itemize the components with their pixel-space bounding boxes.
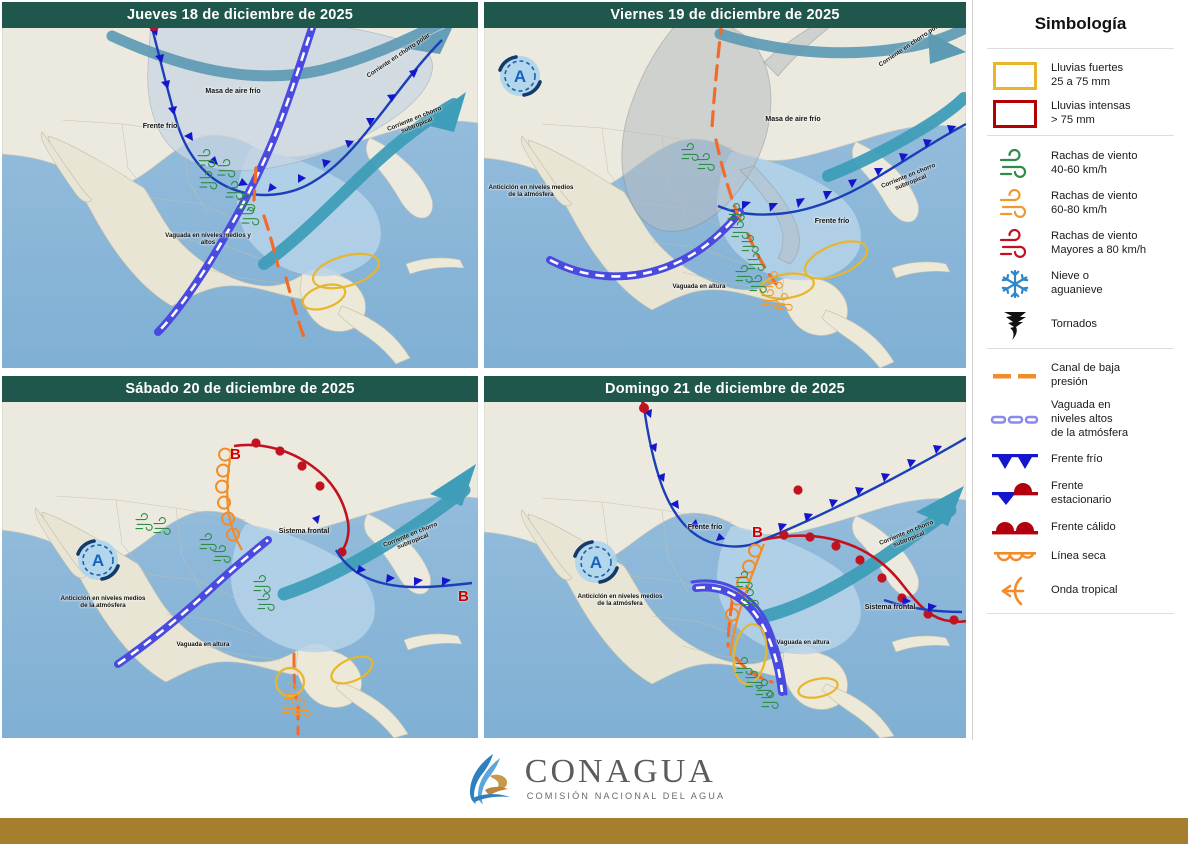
panel-saturday-map[interactable]: A [2, 402, 478, 738]
cold-front-icon [989, 450, 1041, 470]
wind-gust-green-icon [989, 149, 1041, 179]
legend-item-wind-40-60[interactable]: Rachas de viento 40-60 km/h [981, 144, 1180, 184]
tropical-wave-icon [989, 576, 1041, 606]
panel-friday-map[interactable]: A [484, 28, 966, 368]
low-pressure-channel-icon [989, 370, 1041, 382]
conagua-emblem-icon [463, 750, 515, 806]
legend-label-wind-40-60: Rachas de viento 40-60 km/h [1051, 150, 1137, 177]
svg-text:A: A [92, 551, 104, 570]
panel-thursday-title: Jueves 18 de diciembre de 2025 [2, 2, 478, 28]
tornado-icon [989, 309, 1041, 341]
map-canvas-friday: A [484, 28, 966, 368]
legend-label-cold-front: Frente frío [1051, 453, 1103, 467]
legend-divider-bottom [987, 613, 1174, 614]
footer: CONAGUA COMISIÓN NACIONAL DEL AGUA [0, 740, 1188, 844]
rain-box-yellow-icon [989, 62, 1041, 90]
warm-front-icon [989, 518, 1041, 538]
legend-label-intense-rain: Lluvias intensas > 75 mm [1051, 100, 1131, 127]
panel-saturday[interactable]: Sábado 20 de diciembre de 2025 [2, 376, 478, 738]
conagua-logo: CONAGUA COMISIÓN NACIONAL DEL AGUA [0, 750, 1188, 806]
panel-friday-title: Viernes 19 de diciembre de 2025 [484, 2, 966, 28]
low-pressure-symbol-right: B [458, 588, 469, 605]
legend-divider-top [987, 48, 1174, 49]
legend-item-wind-60-80[interactable]: Rachas de viento 60-80 km/h [981, 184, 1180, 224]
legend-item-dry-line[interactable]: Línea seca [981, 543, 1180, 571]
map-canvas-sunday: A [484, 402, 966, 738]
anticyclone-symbol-friday: A [500, 56, 540, 96]
dry-line-icon [989, 548, 1041, 566]
wind-gust-orange-icon [989, 189, 1041, 219]
legend-item-wind-over-80[interactable]: Rachas de viento Mayores a 80 km/h [981, 224, 1180, 264]
conagua-subtitle: COMISIÓN NACIONAL DEL AGUA [527, 792, 725, 801]
conagua-wordmark: CONAGUA [525, 755, 725, 789]
low-pressure-symbol: B [752, 524, 763, 541]
legend-divider-rain [987, 135, 1174, 136]
legend-item-low-pressure-channel[interactable]: Canal de baja presión [981, 357, 1180, 394]
legend-label-warm-front: Frente cálido [1051, 521, 1116, 535]
legend-label-heavy-rain: Lluvias fuertes 25 a 75 mm [1051, 62, 1123, 89]
anticyclone-symbol-saturday: A [78, 540, 118, 580]
footer-gold-bar [0, 818, 1188, 844]
panel-thursday[interactable]: Jueves 18 de diciembre de 2025 [2, 2, 478, 368]
panel-saturday-title: Sábado 20 de diciembre de 2025 [2, 376, 478, 402]
legend-item-upper-trough[interactable]: Vaguada en niveles altos de la atmósfera [981, 394, 1180, 445]
panel-thursday-map[interactable]: Masa de aire frío Frente frío Vaguada en… [2, 28, 478, 368]
legend-divider-systems [987, 348, 1174, 349]
svg-text:A: A [514, 67, 526, 86]
map-canvas-thursday [2, 28, 478, 368]
panel-sunday[interactable]: Domingo 21 de diciembre de 2025 [484, 376, 966, 738]
legend-item-tropical-wave[interactable]: Onda tropical [981, 571, 1180, 611]
legend-item-snow[interactable]: Nieve o aguanieve [981, 264, 1180, 304]
upper-level-trough-icon [989, 413, 1041, 427]
panel-sunday-title: Domingo 21 de diciembre de 2025 [484, 376, 966, 402]
anticyclone-symbol-sunday: A [575, 541, 617, 583]
panel-friday[interactable]: Viernes 19 de diciembre de 2025 [484, 2, 966, 368]
legend-label-stationary-front: Frente estacionario [1051, 480, 1111, 507]
legend-label-wind-over-80: Rachas de viento Mayores a 80 km/h [1051, 230, 1146, 257]
weather-forecast-infographic: Jueves 18 de diciembre de 2025 [0, 0, 1188, 844]
legend-label-wind-60-80: Rachas de viento 60-80 km/h [1051, 190, 1137, 217]
rain-box-red-icon [989, 100, 1041, 128]
panel-sunday-map[interactable]: A [484, 402, 966, 738]
legend-item-intense-rain[interactable]: Lluvias intensas > 75 mm [981, 95, 1180, 133]
wind-gust-red-icon [989, 229, 1041, 259]
legend-item-tornado[interactable]: Tornados [981, 304, 1180, 346]
legend-item-stationary-front[interactable]: Frente estacionario [981, 475, 1180, 512]
legend-label-snow: Nieve o aguanieve [1051, 270, 1103, 297]
legend-item-cold-front[interactable]: Frente frío [981, 445, 1180, 475]
legend-item-warm-front[interactable]: Frente cálido [981, 513, 1180, 543]
legend-title: Simbología [981, 0, 1180, 46]
legend-label-low-pressure-channel: Canal de baja presión [1051, 362, 1120, 389]
legend-label-upper-trough: Vaguada en niveles altos de la atmósfera [1051, 399, 1128, 440]
legend-panel: Simbología Lluvias fuertes 25 a 75 mm Ll… [972, 0, 1188, 740]
legend-label-tornado: Tornados [1051, 318, 1097, 332]
maps-grid: Jueves 18 de diciembre de 2025 [0, 0, 968, 740]
snowflake-icon [989, 269, 1041, 299]
stationary-front-icon [989, 483, 1041, 505]
low-pressure-symbol-left: B [230, 446, 241, 463]
legend-label-tropical-wave: Onda tropical [1051, 584, 1118, 598]
legend-item-heavy-rain[interactable]: Lluvias fuertes 25 a 75 mm [981, 57, 1180, 95]
svg-text:A: A [590, 553, 602, 572]
legend-label-dry-line: Línea seca [1051, 550, 1106, 564]
